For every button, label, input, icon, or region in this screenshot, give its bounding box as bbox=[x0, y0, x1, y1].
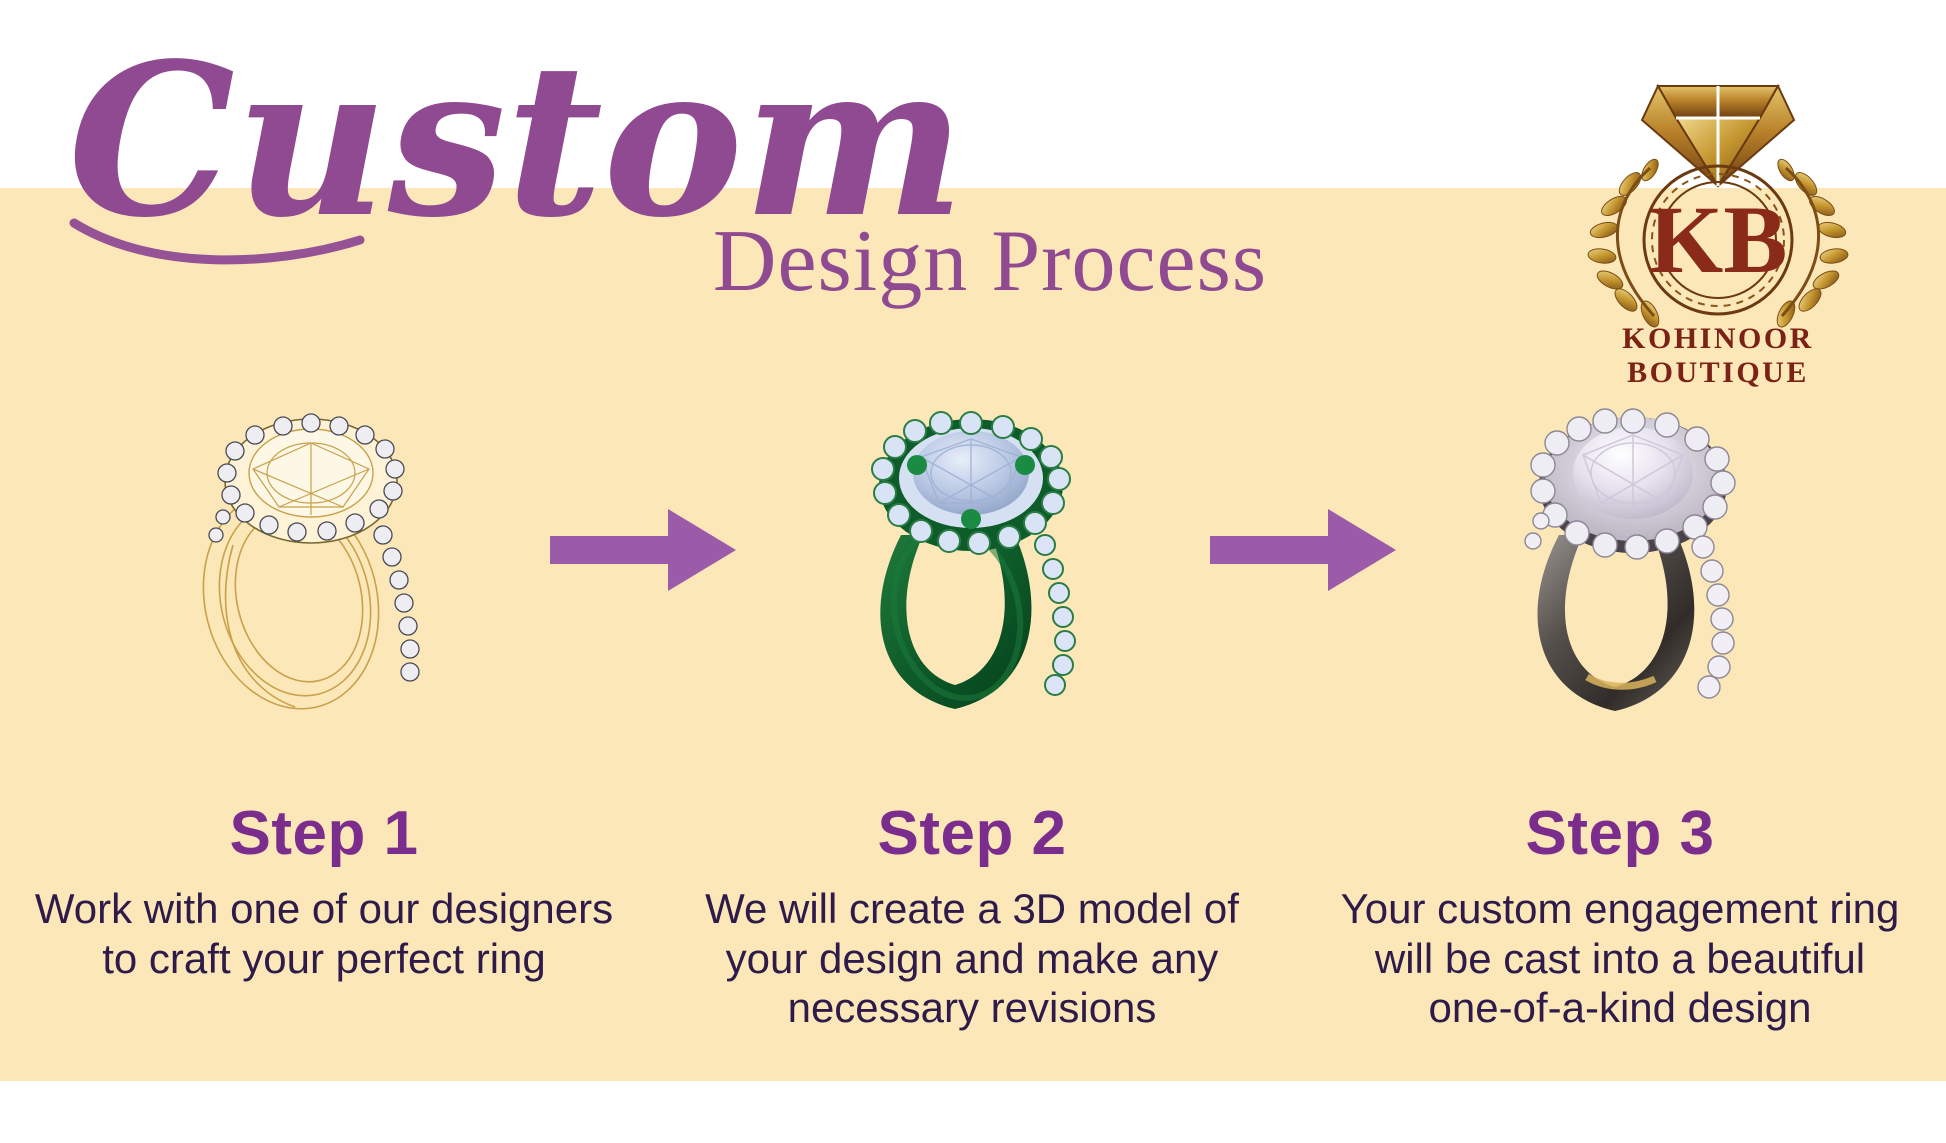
step-3-title: Step 3 bbox=[1322, 800, 1918, 868]
step-1-description-line-1: Work with one of our designers bbox=[26, 884, 622, 934]
arrow-right-icon bbox=[1210, 505, 1396, 595]
arrow-right-icon bbox=[550, 505, 736, 595]
step-1-illustration bbox=[98, 380, 528, 720]
step-3-description-line-3: one-of-a-kind design bbox=[1322, 983, 1918, 1033]
arrow-step2-to-step3 bbox=[1188, 505, 1418, 595]
step-2-description-line-2: your design and make any bbox=[674, 934, 1270, 984]
step-3-description-line-1: Your custom engagement ring bbox=[1322, 884, 1918, 934]
process-captions-row: Step 1 Work with one of our designers to… bbox=[0, 800, 1946, 1033]
logo-wordmark: KOHINOOR BOUTIQUE bbox=[1538, 322, 1898, 390]
finished-ring-icon bbox=[1503, 385, 1763, 715]
step-2-illustration bbox=[758, 380, 1188, 720]
step-2-caption: Step 2 We will create a 3D model of your… bbox=[648, 800, 1296, 1033]
step-3-illustration bbox=[1418, 380, 1848, 720]
step-2-description-line-1: We will create a 3D model of bbox=[674, 884, 1270, 934]
step-3-description: Your custom engagement ring will be cast… bbox=[1322, 884, 1918, 1033]
sketch-ring-icon bbox=[183, 385, 443, 715]
step-3-caption: Step 3 Your custom engagement ring will … bbox=[1296, 800, 1944, 1033]
logo-monogram: KB bbox=[1649, 186, 1788, 293]
step-1-title: Step 1 bbox=[26, 800, 622, 868]
diamond-icon bbox=[1642, 86, 1794, 186]
step-2-description-line-3: necessary revisions bbox=[674, 983, 1270, 1033]
background-band-white-bottom bbox=[0, 1081, 1946, 1143]
cad-green-ring-icon bbox=[843, 385, 1103, 715]
step-1-description-line-2: to craft your perfect ring bbox=[26, 934, 622, 984]
custom-design-process-banner: Custom Design Process bbox=[0, 0, 1946, 1143]
step-2-title: Step 2 bbox=[674, 800, 1270, 868]
step-2-description: We will create a 3D model of your design… bbox=[674, 884, 1270, 1033]
diamond-ring-wreath-icon: KB bbox=[1538, 58, 1898, 328]
step-1-description: Work with one of our designers to craft … bbox=[26, 884, 622, 983]
headline-design-process: Design Process bbox=[660, 218, 1320, 306]
arrow-step1-to-step2 bbox=[528, 505, 758, 595]
step-1-caption: Step 1 Work with one of our designers to… bbox=[0, 800, 648, 1033]
process-illustrations-row bbox=[0, 400, 1946, 700]
step-3-description-line-2: will be cast into a beautiful bbox=[1322, 934, 1918, 984]
brand-logo: KB KOHINOOR BOUTIQUE bbox=[1538, 58, 1898, 378]
